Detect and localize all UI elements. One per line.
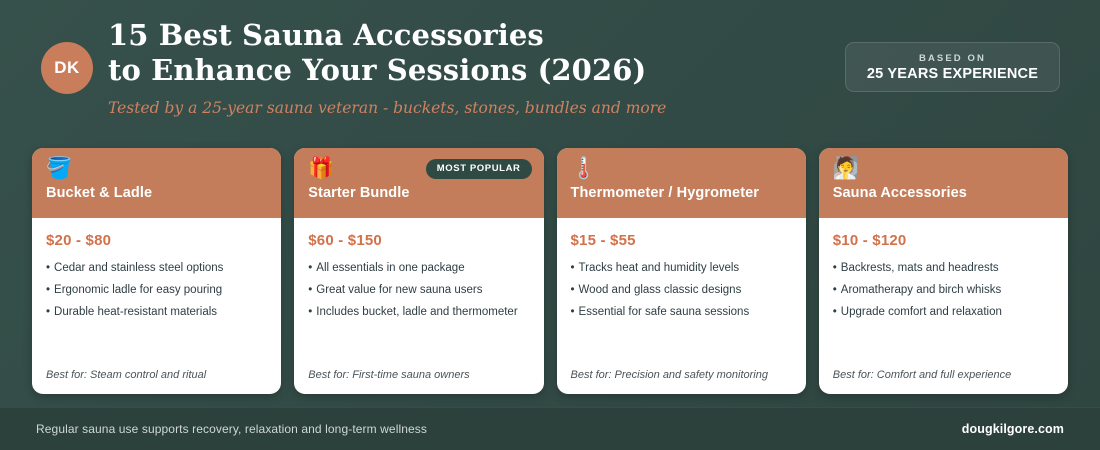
card-header: 🧖 Sauna Accessories [819, 148, 1068, 218]
bullet-icon: • [308, 284, 312, 296]
card-title: Sauna Accessories [833, 185, 1054, 201]
bullet-icon: • [46, 306, 50, 318]
card-feature: •Cedar and stainless steel options [46, 257, 267, 279]
header: DK 15 Best Sauna Accessories to Enhance … [0, 0, 1100, 140]
card-feature: •Backrests, mats and headrests [833, 257, 1054, 279]
card-feature-text: Durable heat-resistant materials [54, 306, 217, 318]
product-card[interactable]: 🪣 Bucket & Ladle $20 - $80 •Cedar and st… [32, 148, 281, 394]
bucket-icon: 🪣 [46, 157, 267, 181]
page-title-line-2: to Enhance Your Sessions (2026) [108, 53, 808, 88]
avatar: DK [41, 42, 93, 94]
bullet-icon: • [833, 306, 837, 318]
bullet-icon: • [46, 284, 50, 296]
page-subtitle: Tested by a 25-year sauna veteran - buck… [108, 99, 808, 117]
card-body: $10 - $120 •Backrests, mats and headrest… [819, 218, 1068, 394]
card-feature-text: Great value for new sauna users [316, 284, 482, 296]
product-card[interactable]: 🎁 MOST POPULAR Starter Bundle $60 - $150… [294, 148, 543, 394]
card-feature: •Wood and glass classic designs [571, 279, 792, 301]
bullet-icon: • [571, 284, 575, 296]
page-title-line-1: 15 Best Sauna Accessories [108, 18, 808, 53]
card-body: $60 - $150 •All essentials in one packag… [294, 218, 543, 394]
card-price: $60 - $150 [308, 232, 529, 249]
card-feature: •Includes bucket, ladle and thermometer [308, 301, 529, 323]
card-feature: •Essential for safe sauna sessions [571, 301, 792, 323]
bullet-icon: • [308, 306, 312, 318]
card-feature-text: Backrests, mats and headrests [841, 262, 999, 274]
bullet-icon: • [833, 284, 837, 296]
card-price: $20 - $80 [46, 232, 267, 249]
experience-badge-label: BASED ON [919, 52, 986, 65]
bullet-icon: • [833, 262, 837, 274]
card-feature-text: All essentials in one package [316, 262, 464, 274]
experience-badge: BASED ON 25 YEARS EXPERIENCE [845, 42, 1060, 92]
poster-canvas: DK 15 Best Sauna Accessories to Enhance … [0, 0, 1100, 450]
card-best-for: Best for: Steam control and ritual [46, 369, 206, 381]
card-feature-text: Wood and glass classic designs [579, 284, 742, 296]
bullet-icon: • [571, 262, 575, 274]
card-feature: •Upgrade comfort and relaxation [833, 301, 1054, 323]
card-grid: 🪣 Bucket & Ladle $20 - $80 •Cedar and st… [32, 148, 1068, 394]
card-feature-text: Ergonomic ladle for easy pouring [54, 284, 222, 296]
bullet-icon: • [571, 306, 575, 318]
card-price: $15 - $55 [571, 232, 792, 249]
card-feature: •Tracks heat and humidity levels [571, 257, 792, 279]
card-feature: •All essentials in one package [308, 257, 529, 279]
card-feature-text: Cedar and stainless steel options [54, 262, 223, 274]
card-body: $15 - $55 •Tracks heat and humidity leve… [557, 218, 806, 394]
bullet-icon: • [308, 262, 312, 274]
sauna-person-icon: 🧖 [833, 157, 1054, 181]
most-popular-badge: MOST POPULAR [426, 159, 532, 179]
footer-note: Regular sauna use supports recovery, rel… [36, 422, 427, 436]
card-feature: •Durable heat-resistant materials [46, 301, 267, 323]
card-feature-text: Tracks heat and humidity levels [579, 262, 740, 274]
card-price: $10 - $120 [833, 232, 1054, 249]
card-feature: •Great value for new sauna users [308, 279, 529, 301]
card-best-for: Best for: Precision and safety monitorin… [571, 369, 768, 381]
card-best-for: Best for: First-time sauna owners [308, 369, 469, 381]
card-feature-text: Includes bucket, ladle and thermometer [316, 306, 517, 318]
card-feature-text: Aromatherapy and birch whisks [841, 284, 1001, 296]
card-feature-text: Upgrade comfort and relaxation [841, 306, 1002, 318]
card-feature: •Ergonomic ladle for easy pouring [46, 279, 267, 301]
product-card[interactable]: 🧖 Sauna Accessories $10 - $120 •Backrest… [819, 148, 1068, 394]
card-title: Starter Bundle [308, 185, 529, 201]
card-body: $20 - $80 •Cedar and stainless steel opt… [32, 218, 281, 394]
card-feature: •Aromatherapy and birch whisks [833, 279, 1054, 301]
card-header: 🎁 MOST POPULAR Starter Bundle [294, 148, 543, 218]
card-title: Bucket & Ladle [46, 185, 267, 201]
experience-badge-value: 25 YEARS EXPERIENCE [867, 65, 1038, 83]
card-header: 🌡️ Thermometer / Hygrometer [557, 148, 806, 218]
card-feature-text: Essential for safe sauna sessions [579, 306, 750, 318]
footer: Regular sauna use supports recovery, rel… [0, 407, 1100, 450]
bullet-icon: • [46, 262, 50, 274]
footer-site-url: dougkilgore.com [962, 422, 1064, 436]
title-block: 15 Best Sauna Accessories to Enhance You… [108, 18, 808, 117]
thermometer-icon: 🌡️ [571, 157, 792, 181]
card-header: 🪣 Bucket & Ladle [32, 148, 281, 218]
card-title: Thermometer / Hygrometer [571, 185, 792, 201]
product-card[interactable]: 🌡️ Thermometer / Hygrometer $15 - $55 •T… [557, 148, 806, 394]
card-best-for: Best for: Comfort and full experience [833, 369, 1012, 381]
